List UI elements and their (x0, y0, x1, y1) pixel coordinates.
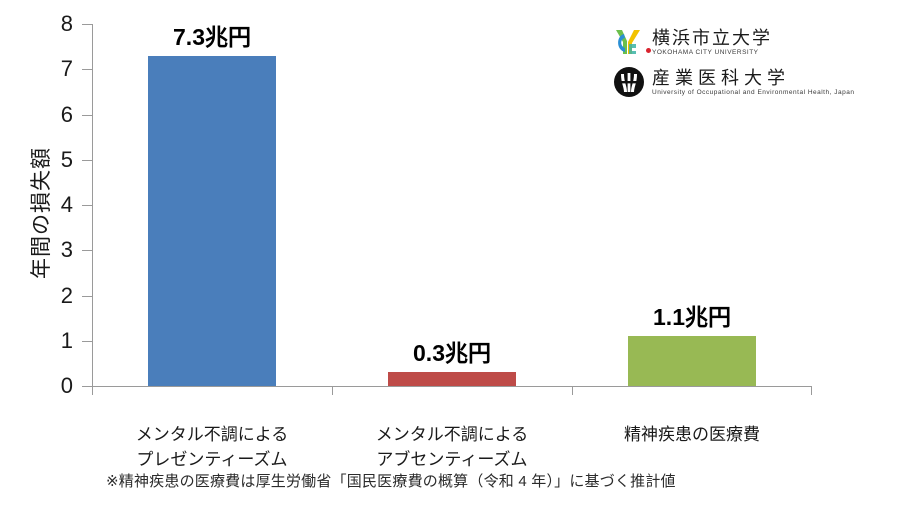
logo-block: 横浜市立大学 YOKOHAMA CITY UNIVERSITY 産業医科大学 U… (612, 24, 872, 100)
ycu-name-en: YOKOHAMA CITY UNIVERSITY (652, 48, 772, 57)
x-tick-0 (92, 386, 93, 395)
footnote-text: ※精神疾患の医療費は厚生労働省「国民医療費の概算（令和 4 年）」に基づく推計値 (106, 470, 676, 491)
uoeh-logo-text: 産業医科大学 University of Occupational and En… (652, 68, 854, 97)
y-tick-3: 3 (82, 250, 92, 251)
x-axis-label-1-line-1: メンタル不調による (332, 422, 572, 447)
x-axis-label-1: メンタル不調による アブセンティーズム (332, 422, 572, 472)
x-axis-label-0: メンタル不調による プレゼンティーズム (92, 422, 332, 472)
logo-uoeh: 産業医科大学 University of Occupational and En… (612, 64, 872, 100)
bar-presenteeism[interactable]: 7.3兆円 (148, 56, 276, 386)
ycu-logo-dot-icon (646, 48, 651, 53)
y-tick-5: 5 (82, 160, 92, 161)
bar-value-label-0: 7.3兆円 (173, 18, 251, 52)
x-axis-label-2: 精神疾患の医療費 (572, 422, 812, 447)
x-axis-label-1-line-2: アブセンティーズム (332, 447, 572, 472)
y-tick-label-5: 5 (61, 147, 73, 173)
bar-chart: 年間の損失額 0 1 2 3 4 5 6 7 8 (0, 0, 900, 516)
bar-medical-cost[interactable]: 1.1兆円 (628, 336, 756, 386)
y-tick-2: 2 (82, 296, 92, 297)
y-tick-4: 4 (82, 205, 92, 206)
uoeh-name-en: University of Occupational and Environme… (652, 88, 854, 97)
y-tick-label-3: 3 (61, 237, 73, 263)
ycu-name-jp: 横浜市立大学 (652, 28, 772, 48)
x-tick-1 (332, 386, 333, 395)
bar-value-label-1: 0.3兆円 (413, 334, 491, 368)
y-axis-title: 年間の損失額 (25, 68, 55, 358)
y-tick-label-4: 4 (61, 192, 73, 218)
x-axis-line (92, 386, 812, 387)
bar-value-label-2: 1.1兆円 (653, 298, 731, 332)
x-axis-label-2-line-1: 精神疾患の医療費 (572, 422, 812, 447)
x-axis-label-0-line-2: プレゼンティーズム (92, 447, 332, 472)
logo-yokohama-city-university: 横浜市立大学 YOKOHAMA CITY UNIVERSITY (612, 24, 872, 60)
y-tick-label-8: 8 (61, 11, 73, 37)
ycu-logo-mark-icon (612, 25, 646, 59)
y-tick-label-0: 0 (61, 373, 73, 399)
uoeh-name-jp: 産業医科大学 (652, 68, 854, 88)
ycu-logo-text: 横浜市立大学 YOKOHAMA CITY UNIVERSITY (652, 28, 772, 57)
y-tick-label-1: 1 (61, 328, 73, 354)
y-tick-6: 6 (82, 115, 92, 116)
y-tick-0: 0 (82, 386, 92, 387)
uoeh-logo-mark-icon (612, 65, 646, 99)
y-tick-8: 8 (82, 24, 92, 25)
y-tick-label-2: 2 (61, 283, 73, 309)
y-tick-7: 7 (82, 69, 92, 70)
y-tick-label-6: 6 (61, 102, 73, 128)
x-axis-label-0-line-1: メンタル不調による (92, 422, 332, 447)
y-axis-line (92, 24, 93, 386)
x-tick-2 (572, 386, 573, 395)
x-tick-3 (811, 386, 812, 395)
y-tick-1: 1 (82, 341, 92, 342)
y-tick-label-7: 7 (61, 56, 73, 82)
bar-absenteeism[interactable]: 0.3兆円 (388, 372, 516, 386)
